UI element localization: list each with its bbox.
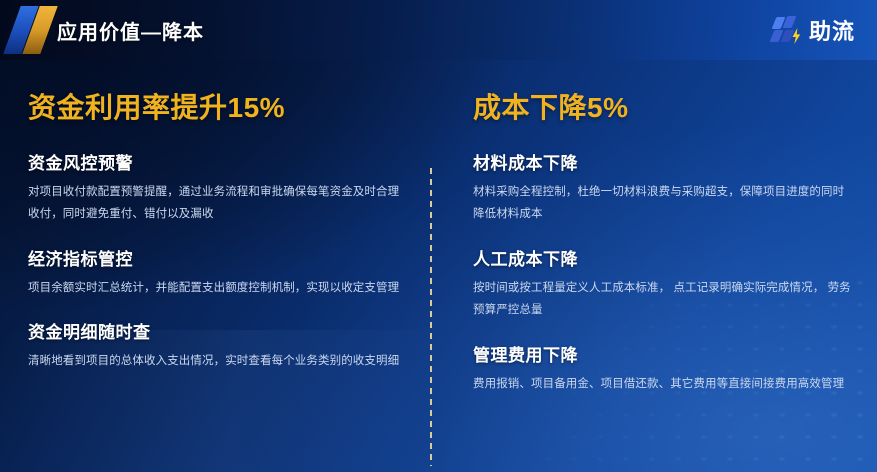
block-title: 管理费用下降: [473, 341, 873, 366]
vertical-dashed-divider: [430, 168, 432, 466]
column-left: 资金利用率提升15% 资金风控预警 对项目收付款配置预警提醒，通过业务流程和审批…: [28, 60, 428, 392]
value-block: 资金明细随时查 清晰地看到项目的总体收入支出情况，实时查看每个业务类别的收支明细: [28, 318, 428, 372]
brand-name: 助流: [809, 14, 855, 46]
block-title: 材料成本下降: [473, 149, 873, 174]
brand-logo: 助流: [772, 0, 855, 60]
value-block: 管理费用下降 费用报销、项目备用金、项目借还款、其它费用等直接间接费用高效管理: [473, 341, 873, 395]
lightning-bolt-icon: [772, 16, 802, 44]
block-body: 费用报销、项目备用金、项目借还款、其它费用等直接间接费用高效管理: [473, 373, 851, 395]
column-heading: 资金利用率提升15%: [28, 86, 428, 126]
page-title: 应用价值—降本: [57, 0, 204, 60]
value-block: 材料成本下降 材料采购全程控制，杜绝一切材料浪费与采购超支，保障项目进度的同时降…: [473, 149, 873, 226]
column-heading: 成本下降5%: [473, 86, 873, 126]
block-title: 人工成本下降: [473, 245, 873, 270]
block-body: 项目余额实时汇总统计，并能配置支出额度控制机制，实现以收定支管理: [28, 277, 406, 299]
column-right: 成本下降5% 材料成本下降 材料采购全程控制，杜绝一切材料浪费与采购超支，保障项…: [473, 60, 873, 414]
block-title: 资金风控预警: [28, 149, 428, 174]
block-title: 资金明细随时查: [28, 318, 428, 343]
block-body: 按时间或按工程量定义人工成本标准， 点工记录明确实际完成情况， 劳务预算严控总量: [473, 277, 851, 322]
header-bar: 应用价值—降本 助流: [0, 0, 877, 60]
block-title: 经济指标管控: [28, 245, 428, 270]
block-body: 材料采购全程控制，杜绝一切材料浪费与采购超支，保障项目进度的同时降低材料成本: [473, 181, 851, 226]
value-block: 资金风控预警 对项目收付款配置预警提醒，通过业务流程和审批确保每笔资金及时合理收…: [28, 149, 428, 226]
slide-canvas: 应用价值—降本 助流 资金利用率提升15% 资金风控预警 对项目收付款配置预警提…: [0, 0, 877, 472]
block-body: 清晰地看到项目的总体收入支出情况，实时查看每个业务类别的收支明细: [28, 350, 406, 372]
value-block: 经济指标管控 项目余额实时汇总统计，并能配置支出额度控制机制，实现以收定支管理: [28, 245, 428, 299]
block-body: 对项目收付款配置预警提醒，通过业务流程和审批确保每笔资金及时合理收付，同时避免重…: [28, 181, 406, 226]
value-block: 人工成本下降 按时间或按工程量定义人工成本标准， 点工记录明确实际完成情况， 劳…: [473, 245, 873, 322]
